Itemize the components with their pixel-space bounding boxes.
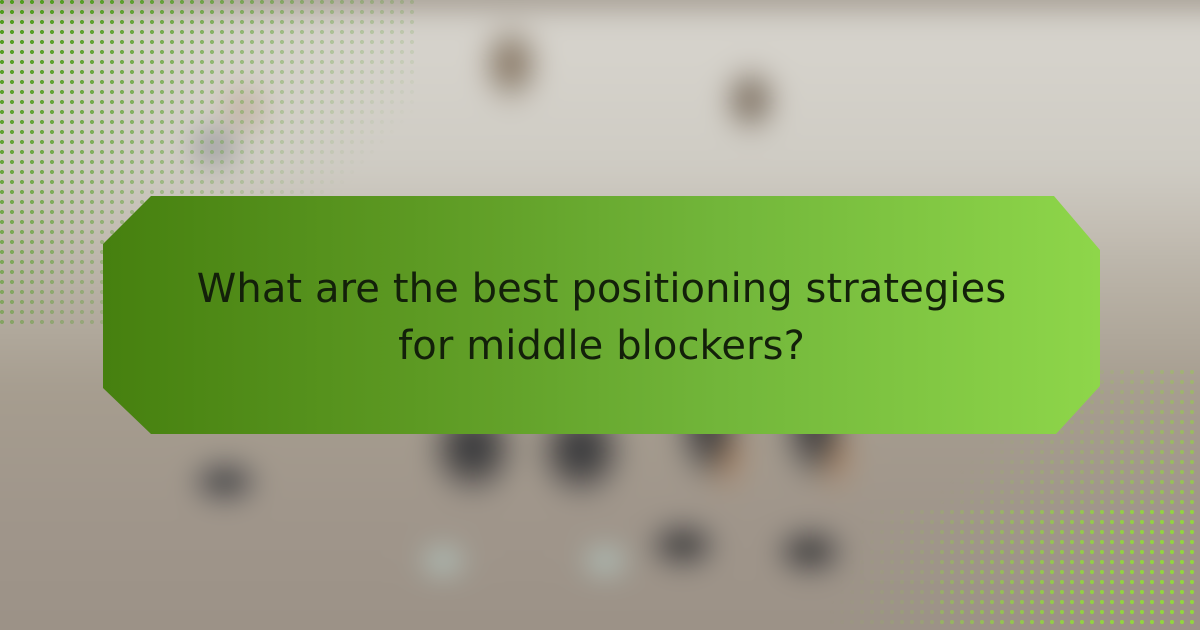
title-banner: What are the best positioning strategies… <box>103 196 1100 434</box>
share-card: What are the best positioning strategies… <box>0 0 1200 630</box>
page-title: What are the best positioning strategies… <box>187 255 1017 375</box>
